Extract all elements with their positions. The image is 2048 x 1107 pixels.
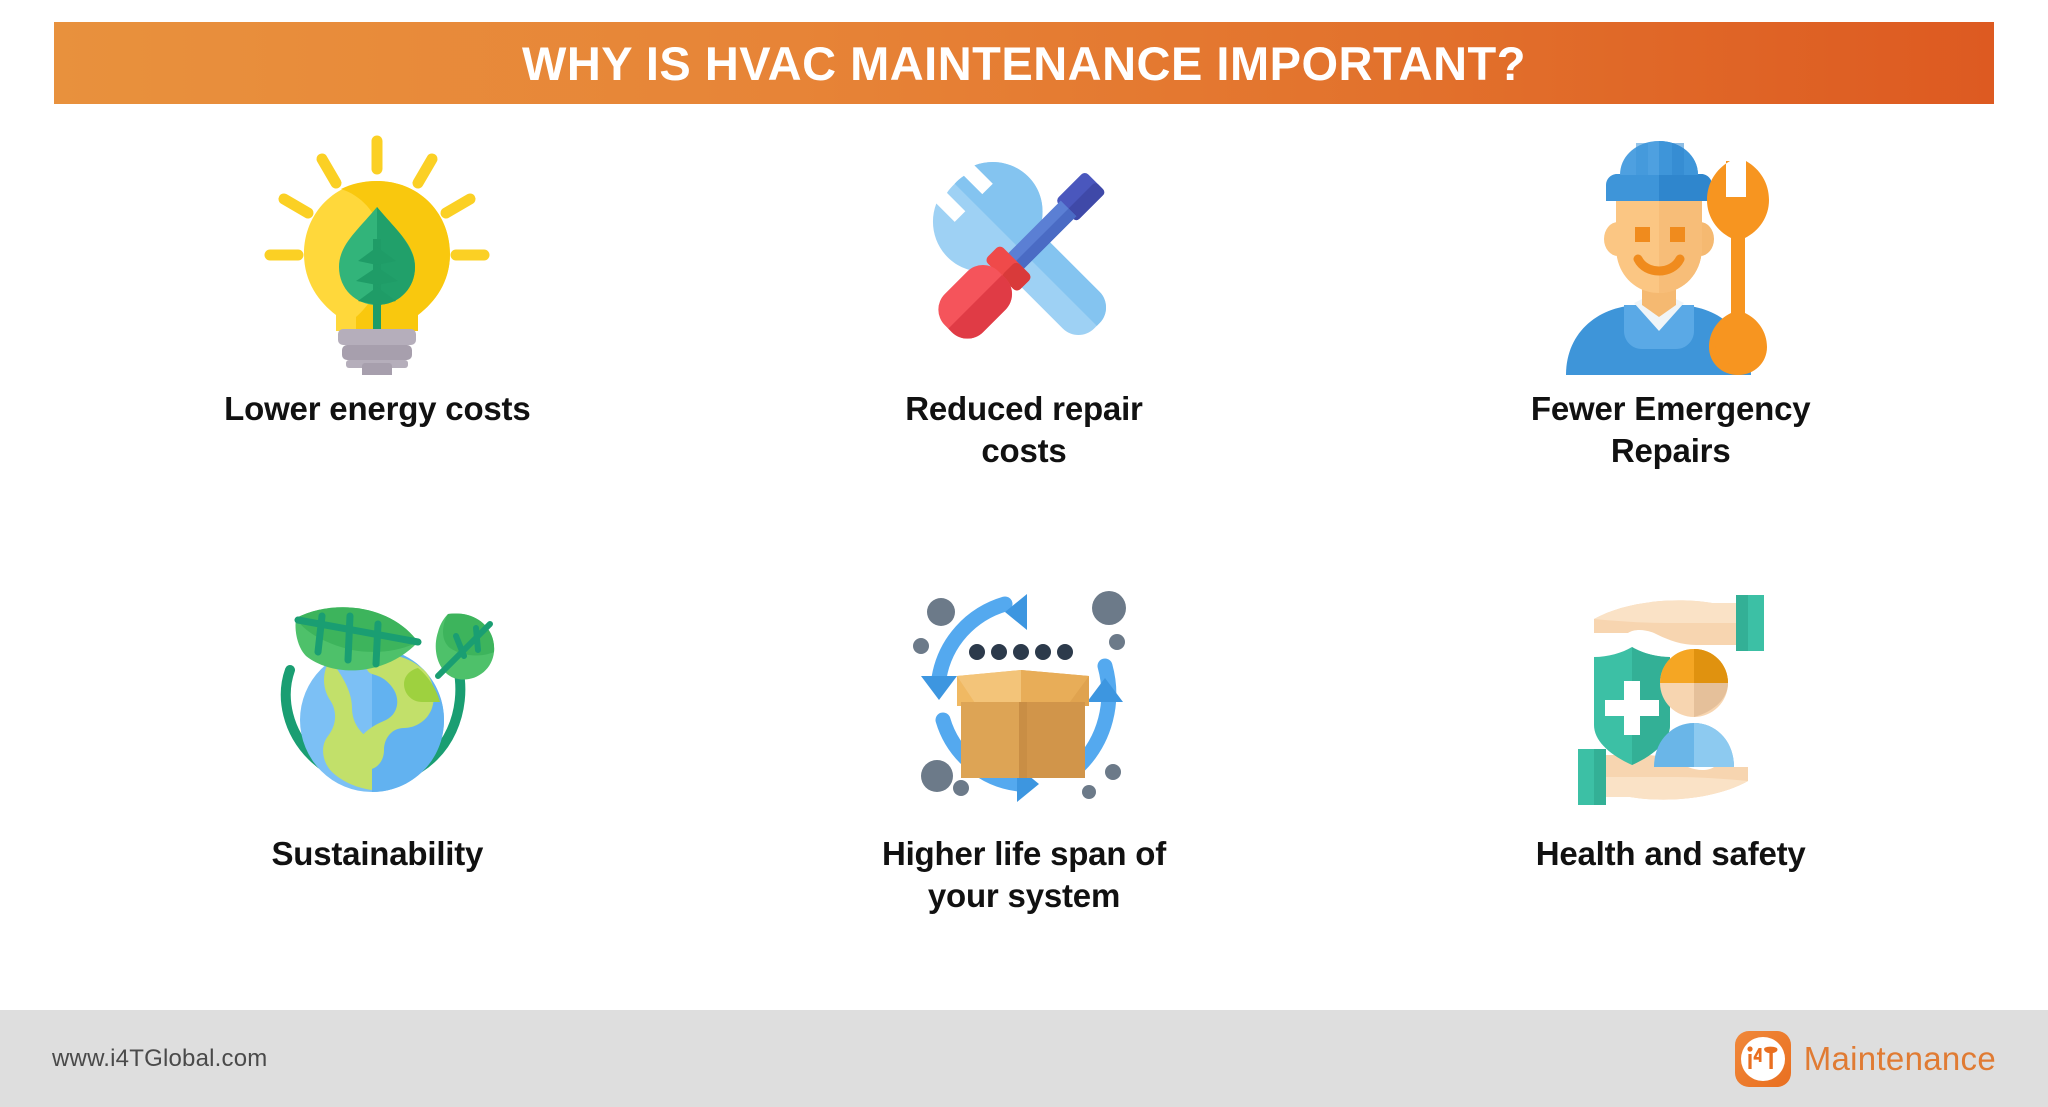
- benefit-label: Sustainability: [271, 833, 483, 875]
- benefit-card-sustainability: Sustainability: [54, 565, 701, 1000]
- hands-shield-person-icon: [1541, 575, 1801, 825]
- page-title: WHY IS HVAC MAINTENANCE IMPORTANT?: [522, 36, 1526, 91]
- benefit-card-fewer-emergency-repairs: Fewer Emergency Repairs: [1347, 130, 1994, 565]
- benefit-card-higher-life-span: Higher life span of your system: [701, 565, 1348, 1000]
- globe-leaves-icon: [247, 575, 507, 825]
- benefit-label: Reduced repair costs: [859, 388, 1189, 472]
- box-recycle-arrows-icon: [894, 575, 1154, 825]
- brand-logo[interactable]: Maintenance: [1735, 1031, 1996, 1087]
- benefit-label: Higher life span of your system: [859, 833, 1189, 917]
- footer-bar: www.i4TGlobal.com Maintenance: [0, 1010, 2048, 1107]
- benefit-card-reduced-repair-costs: Reduced repair costs: [701, 130, 1348, 565]
- header-banner: WHY IS HVAC MAINTENANCE IMPORTANT?: [54, 22, 1994, 104]
- logo-wordmark: Maintenance: [1804, 1040, 1996, 1078]
- i4t-logo-badge: [1735, 1031, 1791, 1087]
- wrench-screwdriver-icon: [894, 130, 1154, 380]
- lightbulb-leaf-icon: [247, 130, 507, 380]
- i4t-hammer-mark: [1744, 1044, 1782, 1074]
- benefit-label: Health and safety: [1536, 833, 1806, 875]
- benefit-card-health-and-safety: Health and safety: [1347, 565, 1994, 1000]
- benefit-card-lower-energy-costs: Lower energy costs: [54, 130, 701, 565]
- logo-badge-circle: [1741, 1037, 1785, 1081]
- benefits-grid: Lower energy costs: [54, 130, 1994, 1000]
- benefit-label: Lower energy costs: [224, 388, 530, 430]
- benefit-label: Fewer Emergency Repairs: [1506, 388, 1836, 472]
- footer-website-url[interactable]: www.i4TGlobal.com: [52, 1045, 267, 1073]
- technician-wrench-icon: [1541, 130, 1801, 380]
